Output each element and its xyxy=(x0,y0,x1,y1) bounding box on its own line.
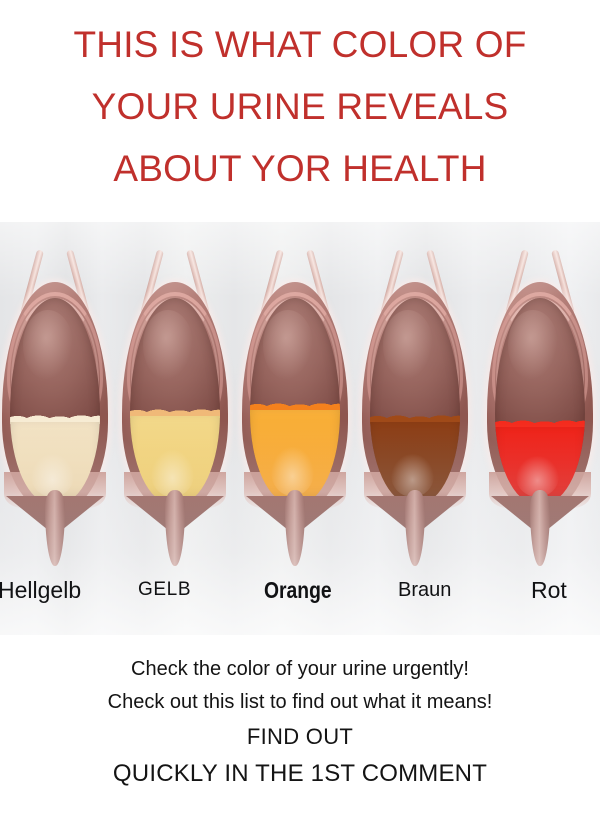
color-label-gelb: GELB xyxy=(138,572,191,608)
headline-line-1: THIS IS WHAT COLOR OF xyxy=(73,14,526,76)
urethra xyxy=(285,490,305,566)
color-label-rot: Rot xyxy=(531,572,567,608)
caption-block: Check the color of your urine urgently! … xyxy=(0,643,600,832)
bladder-diagram-rot xyxy=(481,240,599,570)
infographic-page: THIS IS WHAT COLOR OF YOUR URINE REVEALS… xyxy=(0,0,600,832)
color-label-orange: Orange xyxy=(264,572,332,608)
headline-block: THIS IS WHAT COLOR OF YOUR URINE REVEALS… xyxy=(0,0,600,220)
color-label-row: Hellgelb GELB Orange Braun Rot xyxy=(0,572,600,608)
bladder-diagram-orange xyxy=(236,240,354,570)
caption-line-3: FIND OUT xyxy=(247,719,353,755)
urethra xyxy=(165,490,185,566)
headline-line-2: YOUR URINE REVEALS xyxy=(92,76,509,138)
color-label-braun: Braun xyxy=(398,572,451,608)
headline-line-3: ABOUT YOR HEALTH xyxy=(113,138,486,200)
urethra xyxy=(45,490,65,566)
caption-line-4: QUICKLY IN THE 1ST COMMENT xyxy=(113,755,487,793)
caption-line-2: Check out this list to find out what it … xyxy=(108,686,493,719)
caption-line-1: Check the color of your urine urgently! xyxy=(131,653,469,686)
bladder-diagram-gelb xyxy=(116,240,234,570)
bladder-diagram-braun xyxy=(356,240,474,570)
urine-gloss xyxy=(271,447,314,497)
urethra xyxy=(530,490,550,566)
bladder-diagram-hellgelb xyxy=(0,240,114,570)
color-label-hellgelb: Hellgelb xyxy=(0,572,81,608)
urethra xyxy=(405,490,425,566)
